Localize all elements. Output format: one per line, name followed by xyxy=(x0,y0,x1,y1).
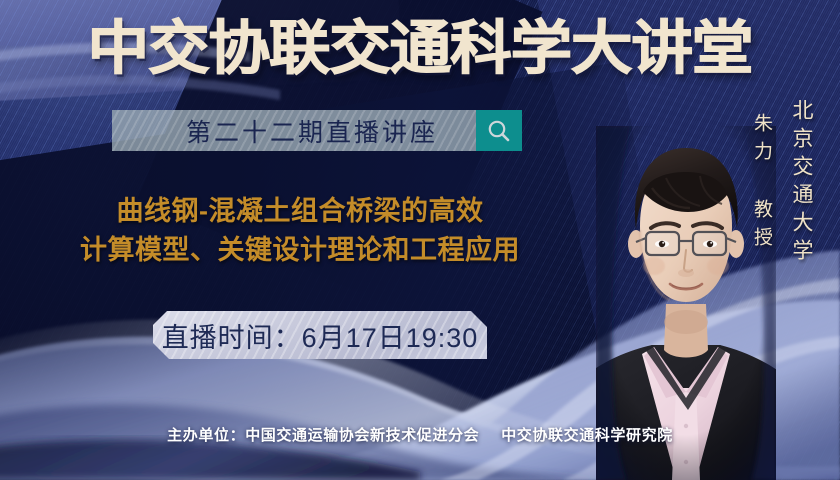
lecture-poster: 中交协联交通科学大讲堂 第二十二期直播讲座 曲线钢-混凝土组合桥梁的高效 计算模… xyxy=(0,0,840,480)
footer-prefix: 主办单位： xyxy=(167,427,245,444)
organizer-footer: 主办单位：中国交通运输协会新技术促进分会中交协联交通科学研究院 xyxy=(0,424,840,445)
search-icon-box[interactable] xyxy=(476,110,522,151)
page-title: 中交协联交通科学大讲堂 xyxy=(0,16,840,80)
speaker-name-title: 朱力 教授 xyxy=(748,113,775,255)
topic-line-2: 计算模型、关键设计理论和工程应用 xyxy=(0,231,600,270)
broadcast-time-label: 直播时间：6月17日19:30 xyxy=(162,316,479,355)
topic-line-1: 曲线钢-混凝土组合桥梁的高效 xyxy=(0,192,600,231)
footer-org-1: 中国交通运输协会新技术促进分会 xyxy=(245,427,479,444)
episode-label: 第二十二期直播讲座 xyxy=(112,110,476,151)
episode-banner: 第二十二期直播讲座 xyxy=(112,110,522,151)
footer-org-2: 中交协联交通科学研究院 xyxy=(501,427,673,444)
broadcast-time-plate: 直播时间：6月17日19:30 xyxy=(153,311,487,359)
lecture-topic: 曲线钢-混凝土组合桥梁的高效 计算模型、关键设计理论和工程应用 xyxy=(0,192,600,270)
search-icon xyxy=(486,118,512,144)
speaker-affiliation: 北京交通大学 xyxy=(786,99,816,267)
